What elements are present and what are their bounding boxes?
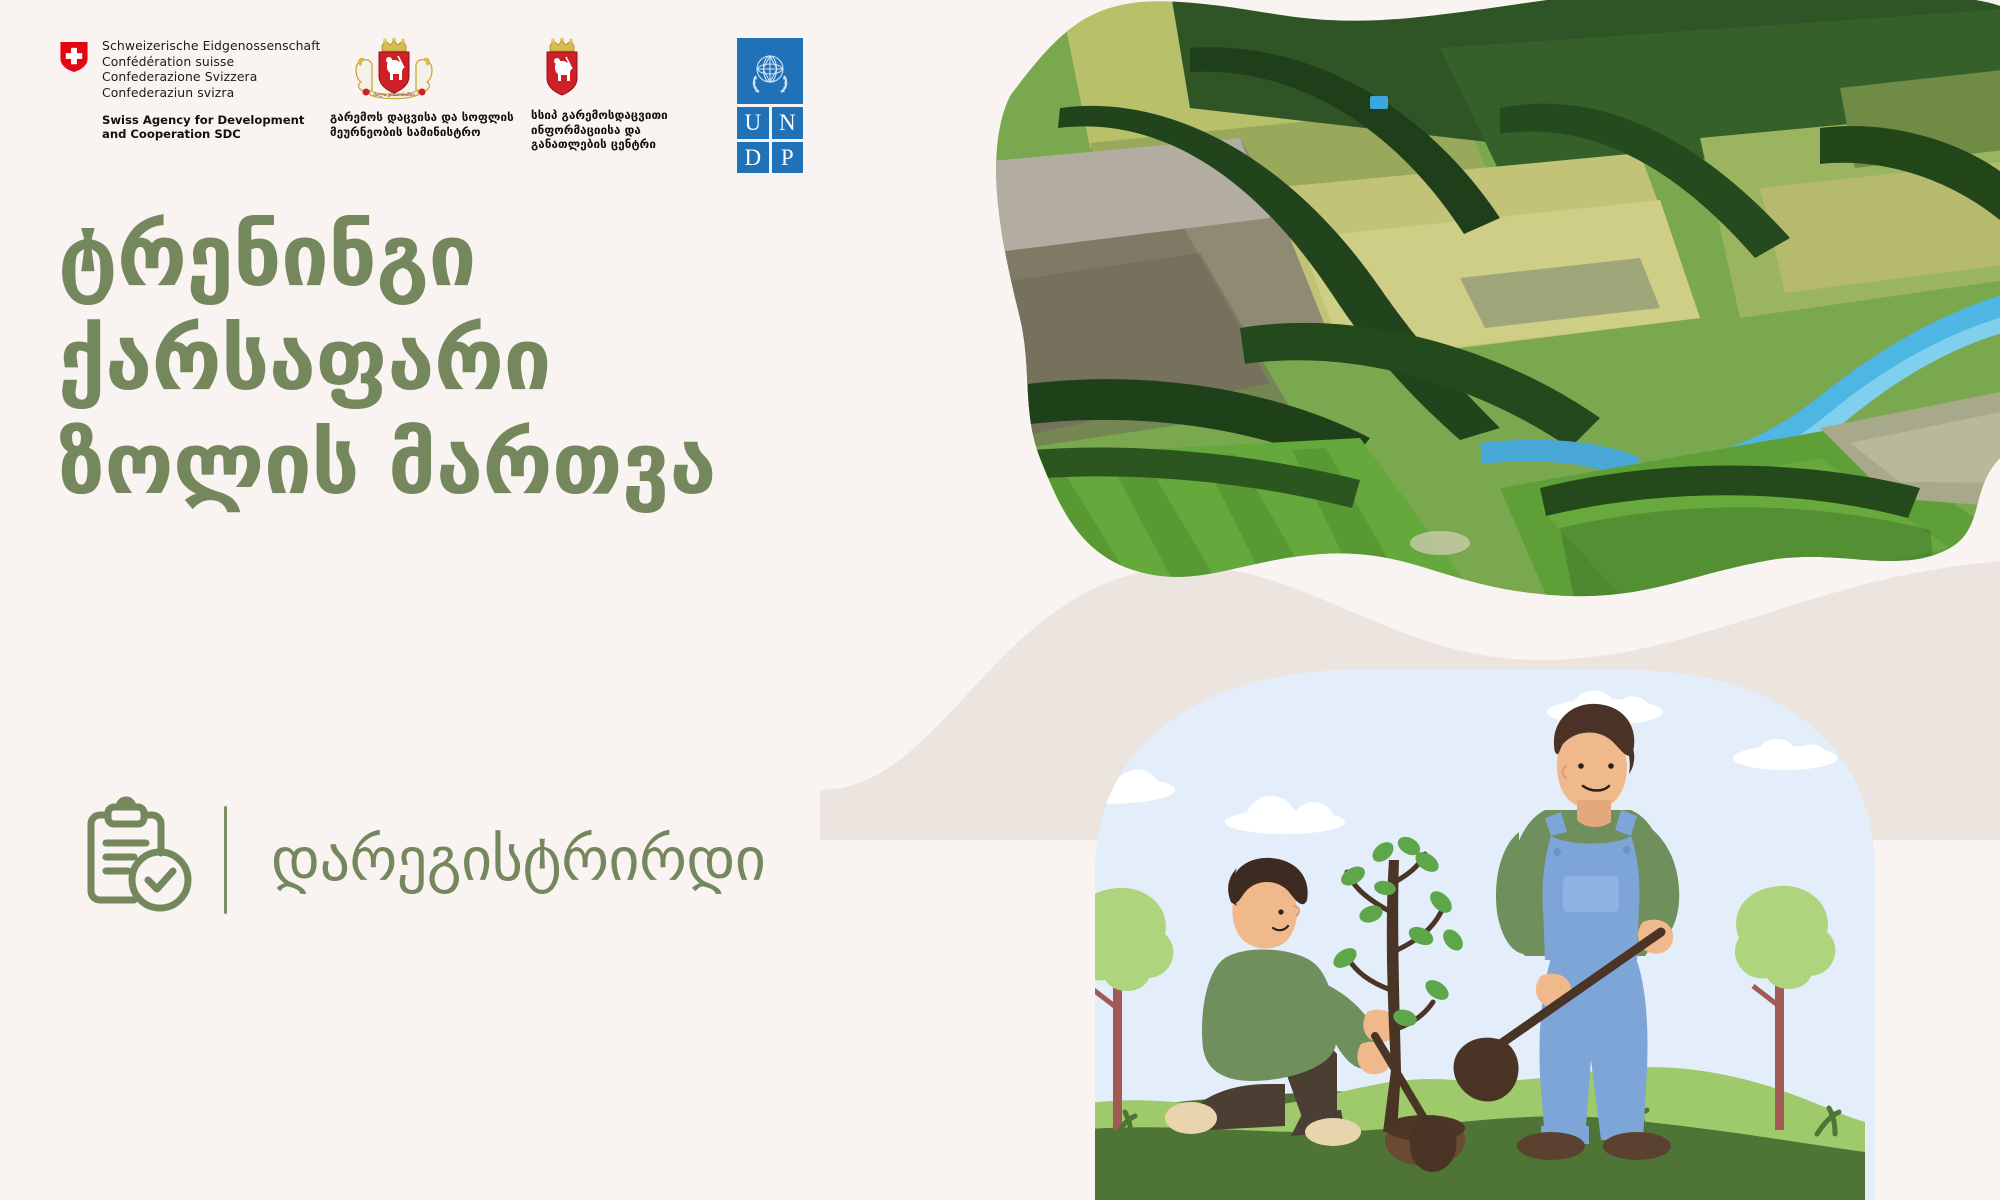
eiec-caption-line-1: სსიპ გარემოსდაცვითი xyxy=(531,108,668,123)
swiss-line-rm: Confederaziun svizra xyxy=(102,85,320,101)
undp-letter-n: N xyxy=(772,107,804,139)
undp-letter-u: U xyxy=(737,107,769,139)
undp-letter-p: P xyxy=(772,142,804,174)
svg-text:ძალა ერთობაშია: ძალა ერთობაშია xyxy=(373,91,415,98)
title-line-1: ტრენინგი xyxy=(58,205,716,309)
ministry-caption-line-2: მეურნეობის სამინისტრო xyxy=(330,125,514,140)
environmental-info-education-center-logo: სსიპ გარემოსდაცვითი ინფორმაციისა და განა… xyxy=(531,38,711,152)
register-cta[interactable]: დარეგისტრირდი xyxy=(72,795,765,925)
tree-planting-illustration xyxy=(985,640,1885,1200)
cta-divider xyxy=(224,806,227,914)
swiss-agency-line-1: Swiss Agency for Development xyxy=(102,113,320,127)
eiec-caption-line-3: განათლების ცენტრი xyxy=(531,137,668,152)
poster-canvas: Schweizerische Eidgenossenschaft Confédé… xyxy=(0,0,2000,1200)
register-label[interactable]: დარეგისტრირდი xyxy=(271,830,765,890)
page-title: ტრენინგი ქარსაფარი ზოლის მართვა xyxy=(58,205,716,517)
swiss-line-fr: Confédération suisse xyxy=(102,54,320,70)
title-line-3: ზოლის მართვა xyxy=(58,413,716,517)
clipboard-check-icon xyxy=(72,795,202,925)
swiss-agency-line-2: and Cooperation SDC xyxy=(102,127,320,141)
eiec-caption-line-2: ინფორმაციისა და xyxy=(531,123,668,138)
partner-logos: Schweizerische Eidgenossenschaft Confédé… xyxy=(60,38,803,173)
swiss-confederation-logo: Schweizerische Eidgenossenschaft Confédé… xyxy=(60,38,330,141)
undp-letter-d: D xyxy=(737,142,769,174)
swiss-shield-icon xyxy=(60,42,88,72)
ministry-caption-line-1: გარემოს დაცვისა და სოფლის xyxy=(330,110,514,125)
un-emblem-icon xyxy=(737,38,803,104)
title-line-2: ქარსაფარი xyxy=(58,309,716,413)
ministry-of-environment-logo: ძალა ერთობაშია გარემოს დაცვისა და სოფლის… xyxy=(330,38,515,139)
swiss-line-de: Schweizerische Eidgenossenschaft xyxy=(102,38,320,54)
georgia-shield-icon xyxy=(539,38,585,100)
swiss-line-it: Confederazione Svizzera xyxy=(102,69,320,85)
georgia-coat-of-arms-icon: ძალა ერთობაშია xyxy=(352,38,436,100)
aerial-farmland-shelterbelt-photo xyxy=(940,0,2000,628)
undp-logo: U N D P xyxy=(737,38,803,173)
